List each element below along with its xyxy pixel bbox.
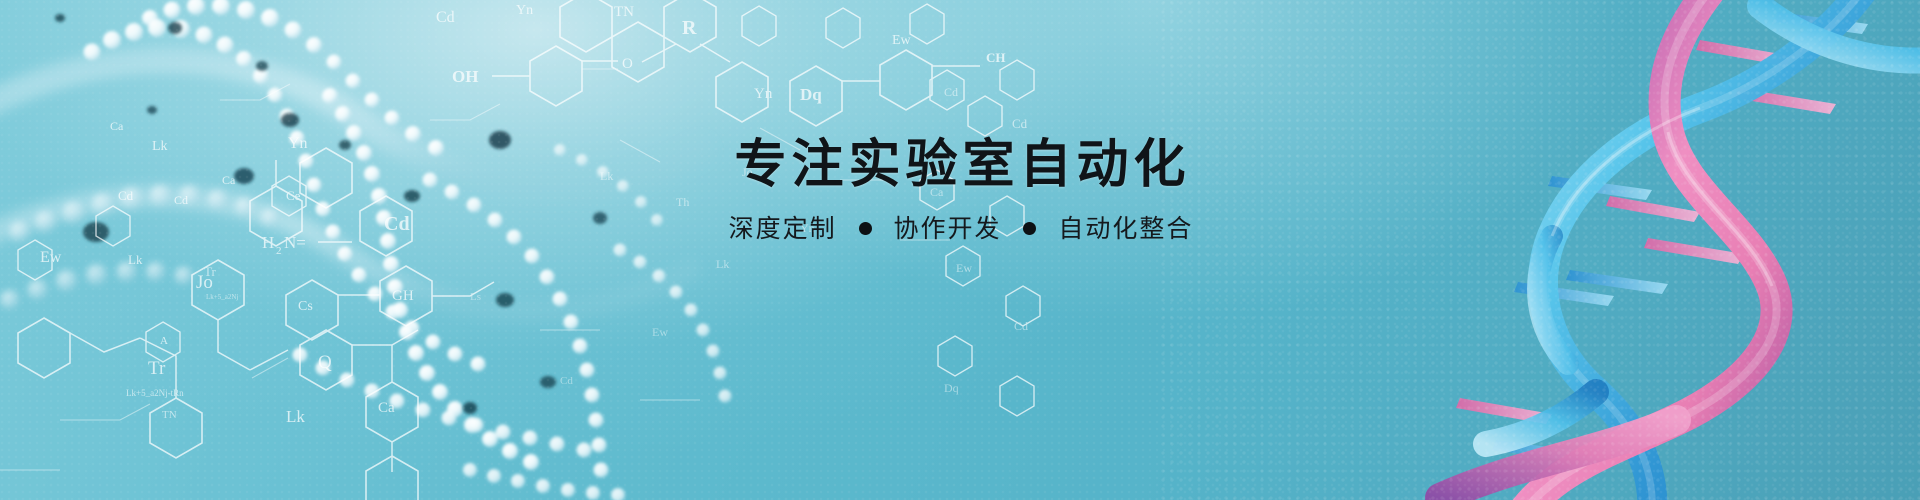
svg-text:Tr: Tr [204, 264, 216, 279]
chemical-structure-overlay: .cl{stroke:#ffffff;stroke-width:1.5;fill… [0, 0, 1060, 500]
svg-text:Lk: Lk [600, 169, 613, 183]
svg-text:2: 2 [276, 245, 282, 257]
svg-text:Lk: Lk [716, 257, 729, 271]
svg-text:Ls: Ls [470, 291, 481, 303]
subtitle-item-1: 深度定制 [729, 214, 837, 243]
svg-text:TN: TN [162, 409, 177, 421]
svg-text:Yn: Yn [754, 86, 773, 102]
svg-text:Cd: Cd [174, 193, 188, 207]
pearl-bead-dna-helix-artwork [0, 0, 900, 500]
svg-text:Cd: Cd [118, 188, 134, 203]
svg-text:Jo: Jo [196, 272, 213, 293]
svg-text:Yn: Yn [516, 3, 533, 18]
svg-text:Cd: Cd [436, 9, 455, 26]
svg-text:H: H [262, 233, 274, 252]
svg-text:Tr: Tr [148, 358, 166, 379]
svg-text:Cd: Cd [944, 85, 958, 99]
svg-text:CH: CH [986, 50, 1006, 65]
hero-banner: .cl{stroke:#ffffff;stroke-width:1.5;fill… [0, 0, 1920, 500]
svg-text:Ew: Ew [652, 325, 668, 339]
svg-text:Lk: Lk [128, 252, 143, 267]
svg-text:Cs: Cs [298, 299, 313, 314]
svg-text:R: R [682, 17, 697, 39]
svg-text:Cd: Cd [1012, 116, 1028, 131]
svg-text:Yn: Yn [288, 135, 308, 152]
svg-text:Ca: Ca [110, 119, 124, 133]
svg-text:Cd: Cd [560, 375, 573, 387]
svg-text:Ce: Ce [286, 188, 301, 203]
svg-text:Th: Th [676, 195, 689, 209]
svg-text:Jo: Jo [742, 165, 753, 179]
svg-text:Dq: Dq [944, 381, 959, 395]
svg-text:Ca: Ca [930, 185, 944, 199]
svg-text:Ew: Ew [956, 261, 972, 275]
halftone-texture [0, 0, 1920, 500]
svg-text:N=: N= [284, 233, 306, 252]
svg-text:Lk+5_a2Nj-tRn: Lk+5_a2Nj-tRn [126, 388, 184, 398]
svg-text:OH: OH [452, 67, 478, 86]
subtitle-separator-dot-2 [1023, 222, 1036, 235]
svg-text:A: A [160, 335, 168, 347]
halftone-texture-right [1160, 0, 1920, 500]
svg-text:Lk: Lk [152, 139, 168, 154]
banner-headline: 专注实验室自动化 [0, 138, 1920, 193]
svg-text:TN: TN [614, 4, 634, 20]
svg-text:Lk+5_a2Nj: Lk+5_a2Nj [206, 293, 238, 301]
ribbon-dna-double-helix-artwork [1400, 0, 1920, 500]
svg-text:GH: GH [392, 288, 414, 304]
svg-text:Yn: Yn [800, 221, 815, 235]
svg-text:Ew: Ew [892, 33, 912, 48]
svg-text:Cd: Cd [384, 213, 410, 235]
subtitle-item-2: 协作开发 [893, 214, 1001, 243]
svg-text:Ca: Ca [222, 173, 236, 187]
svg-text:Q: Q [318, 352, 332, 373]
svg-text:O: O [622, 56, 633, 72]
subtitle-separator-dot-1 [859, 222, 872, 235]
svg-text:Ca: Ca [378, 400, 395, 416]
subtitle-item-3: 自动化整合 [1058, 214, 1193, 243]
svg-text:Cd: Cd [1014, 319, 1028, 333]
svg-text:Lk: Lk [286, 407, 305, 426]
banner-copy: 专注实验室自动化 深度定制 协作开发 自动化整合 [0, 138, 1920, 243]
banner-subtitle: 深度定制 协作开发 自动化整合 [0, 215, 1920, 243]
svg-text:Ew: Ew [40, 249, 62, 266]
svg-text:Dq: Dq [800, 85, 822, 104]
